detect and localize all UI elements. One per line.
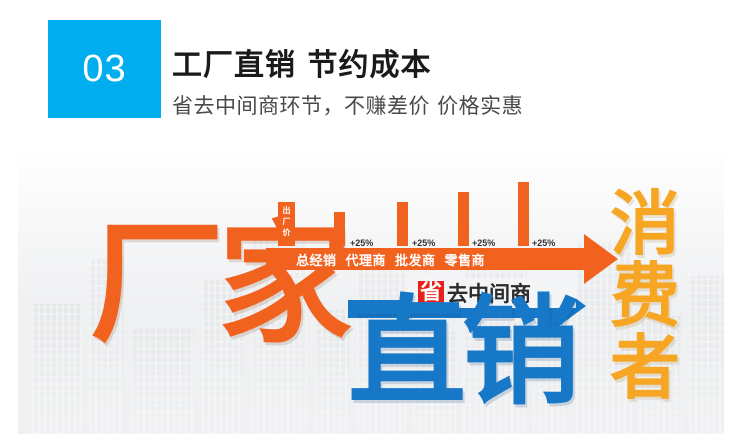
label-direct-sales: 直销 bbox=[348, 300, 576, 404]
chain-step-1: 总经销 bbox=[296, 250, 337, 269]
exit-price-char-1: 出 bbox=[278, 205, 295, 216]
markup-label-3: +25% bbox=[472, 238, 495, 248]
markup-label-1: +25% bbox=[350, 238, 373, 248]
distributor-chain-group: 出 厂 价 +25% +25% +25% +25% 总经销 代理商 批发商 零售… bbox=[266, 182, 606, 292]
step-number-badge: 03 bbox=[48, 20, 161, 118]
chain-step-2: 代理商 bbox=[346, 250, 387, 269]
section-header: 03 工厂直销 节约成本 省去中间商环节，不赚差价 价格实惠 bbox=[0, 0, 748, 152]
chain-bar-2 bbox=[397, 202, 408, 246]
chain-bar-3 bbox=[458, 192, 469, 246]
chain-bar-1 bbox=[334, 212, 345, 246]
consumer-char-3: 者 bbox=[610, 332, 686, 404]
page-title: 工厂直销 节约成本 bbox=[172, 40, 431, 84]
chain-band: 总经销 代理商 批发商 零售商 bbox=[266, 248, 590, 270]
chain-bar-4 bbox=[518, 182, 529, 246]
exit-price-char-3: 价 bbox=[278, 227, 295, 238]
label-exit-price: 出 厂 价 bbox=[278, 202, 295, 246]
markup-label-4: +25% bbox=[532, 238, 555, 248]
consumer-char-1: 消 bbox=[610, 188, 686, 260]
chain-step-3: 批发商 bbox=[395, 250, 436, 269]
page-subtitle: 省去中间商环节，不赚差价 价格实惠 bbox=[172, 90, 523, 120]
consumer-char-2: 费 bbox=[610, 260, 686, 332]
exit-price-char-2: 厂 bbox=[278, 216, 295, 227]
chain-step-4: 零售商 bbox=[445, 250, 486, 269]
label-consumer: 消 费 者 bbox=[610, 188, 686, 404]
illustration-panel: 厂家 出 厂 价 +25% +25% +25% +25% 总经销 代理商 批发商… bbox=[18, 152, 724, 434]
markup-label-2: +25% bbox=[412, 238, 435, 248]
step-number-text: 03 bbox=[82, 48, 126, 91]
